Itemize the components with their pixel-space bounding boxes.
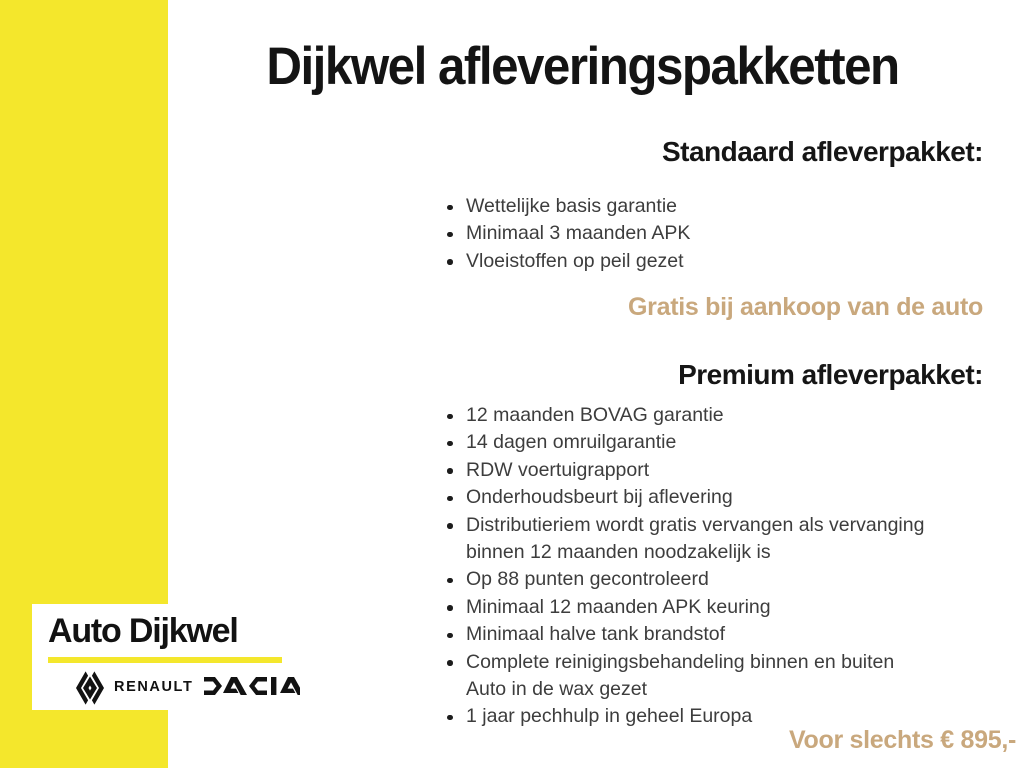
standard-package-list: Wettelijke basis garantie Minimaal 3 maa… (443, 193, 690, 275)
list-item: Op 88 punten gecontroleerd (443, 566, 924, 593)
renault-label: RENAULT (114, 679, 193, 695)
list-item-label: Minimaal halve tank brandstof (466, 623, 725, 645)
list-item: Complete reinigingsbehandeling binnen en… (443, 649, 924, 704)
list-item-continuation: Auto in de wax gezet (466, 676, 924, 703)
standard-package-price-note: Gratis bij aankoop van de auto (628, 293, 983, 322)
list-item: Minimaal 3 maanden APK (443, 220, 690, 247)
page-title: Dijkwel afleveringspakketten (208, 40, 957, 94)
dacia-wordmark-icon (204, 675, 300, 702)
list-item-label: Minimaal 3 maanden APK (466, 222, 690, 244)
premium-package-heading: Premium afleverpakket: (678, 360, 983, 391)
list-item-continuation: binnen 12 maanden noodzakelijk is (466, 539, 924, 566)
premium-package-price-note: Voor slechts € 895,- (789, 726, 1016, 755)
list-item-label: Distributieriem wordt gratis vervangen a… (466, 514, 924, 536)
list-item: Minimaal 12 maanden APK keuring (443, 594, 924, 621)
list-item-label: 1 jaar pechhulp in geheel Europa (466, 705, 752, 727)
list-item: RDW voertuigrapport (443, 457, 924, 484)
list-item-label: Onderhoudsbeurt bij aflevering (466, 486, 733, 508)
list-item-label: RDW voertuigrapport (466, 459, 649, 481)
list-item: 14 dagen omruilgarantie (443, 429, 924, 456)
dealer-logo: Auto Dijkwel RENAULT (32, 604, 298, 710)
list-item: Distributieriem wordt gratis vervangen a… (443, 512, 924, 567)
list-item-label: Op 88 punten gecontroleerd (466, 568, 709, 590)
list-item-label: Complete reinigingsbehandeling binnen en… (466, 651, 894, 673)
brand-row: RENAULT (44, 668, 294, 708)
logo-yellow-rule (48, 657, 282, 663)
standard-package-heading: Standaard afleverpakket: (662, 137, 983, 168)
list-item-label: Wettelijke basis garantie (466, 195, 677, 217)
list-item: Minimaal halve tank brandstof (443, 621, 924, 648)
premium-package-list: 12 maanden BOVAG garantie 14 dagen omrui… (443, 402, 924, 731)
renault-diamond-icon (74, 670, 106, 711)
slide-canvas: Dijkwel afleveringspakketten Standaard a… (0, 0, 1024, 768)
list-item: Wettelijke basis garantie (443, 193, 690, 220)
list-item: Vloeistoffen op peil gezet (443, 248, 690, 275)
list-item-label: Vloeistoffen op peil gezet (466, 250, 684, 272)
list-item-label: Minimaal 12 maanden APK keuring (466, 596, 771, 618)
list-item-label: 12 maanden BOVAG garantie (466, 404, 724, 426)
list-item: Onderhoudsbeurt bij aflevering (443, 484, 924, 511)
logo-wordmark: Auto Dijkwel (48, 612, 238, 651)
list-item: 12 maanden BOVAG garantie (443, 402, 924, 429)
list-item-label: 14 dagen omruilgarantie (466, 431, 676, 453)
